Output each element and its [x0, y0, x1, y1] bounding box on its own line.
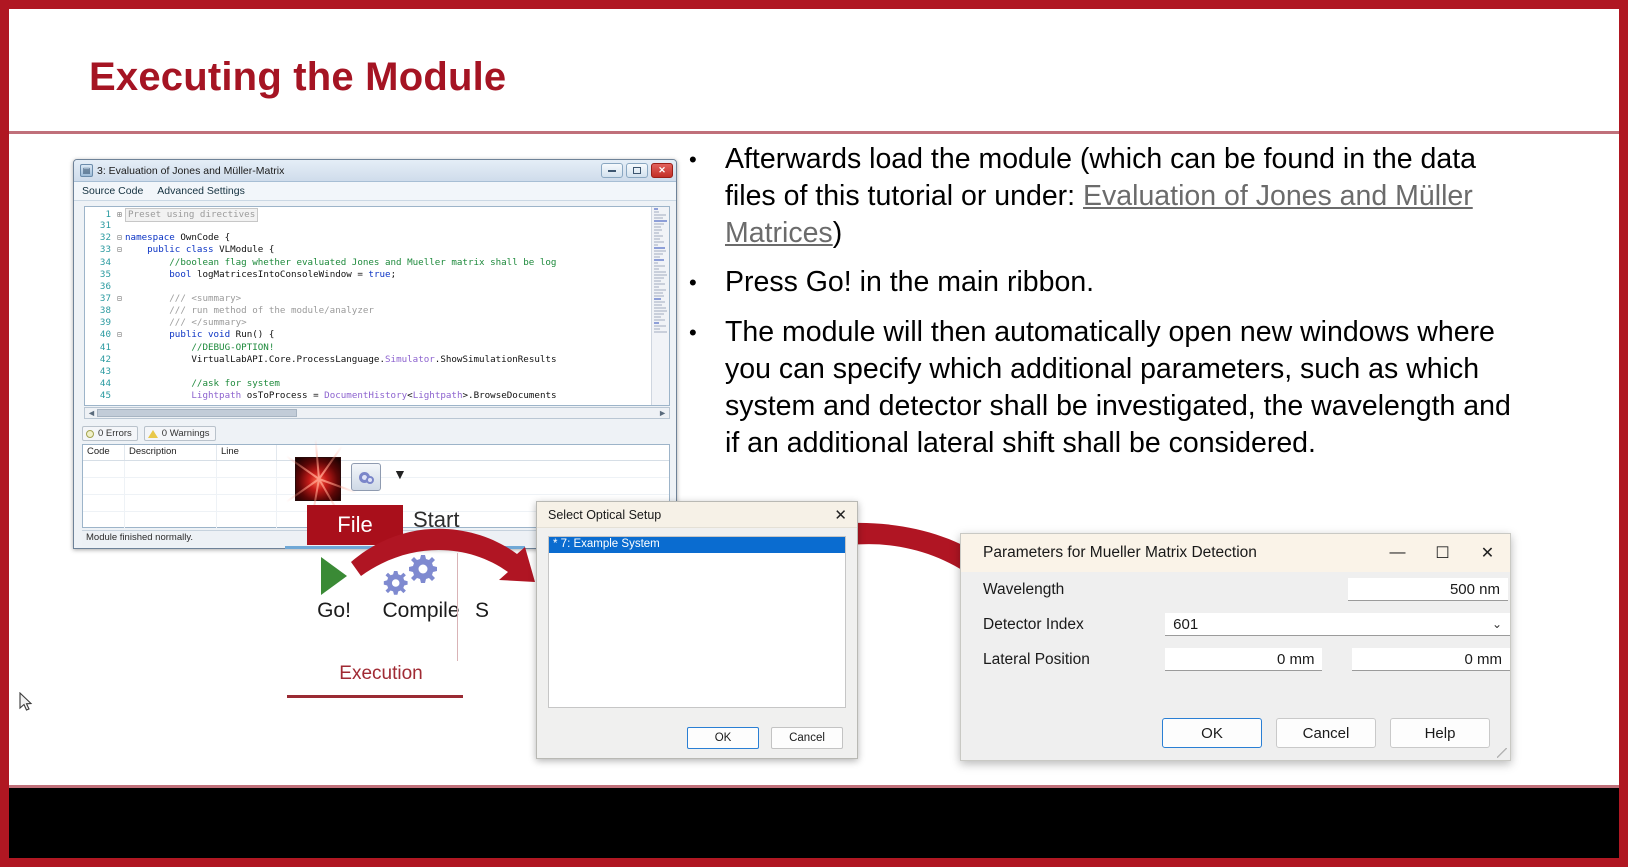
column-header-description[interactable]: Description: [125, 445, 217, 460]
code-line: 36: [85, 281, 651, 293]
minimap-line: [654, 301, 665, 303]
code-token: /// </summary>: [169, 317, 246, 328]
detector-index-value: 601: [1173, 616, 1198, 633]
minimap-line: [654, 277, 664, 279]
minimap-line: [654, 244, 658, 246]
code-line: 34 //boolean flag whether evaluated Jone…: [85, 257, 651, 269]
slide-canvas: Executing the Module • Afterwards load t…: [9, 9, 1619, 858]
play-icon: [321, 557, 347, 595]
minimap-line: [654, 274, 667, 276]
minimap-line: [654, 319, 665, 321]
fold-icon[interactable]: ⊟: [117, 244, 125, 256]
code-token: Run() {: [236, 329, 275, 340]
dialog-titlebar: Select Optical Setup ✕: [537, 502, 857, 528]
code-line: 44 //ask for system: [85, 378, 651, 390]
bullet-text: Afterwards load the module (which can be…: [725, 141, 1531, 252]
dialog-title: Parameters for Mueller Matrix Detection: [983, 544, 1375, 562]
indent: [125, 354, 191, 366]
code-line: 33⊟ public class VLModule {: [85, 244, 651, 256]
minimap-line: [654, 271, 666, 273]
minimap-line: [654, 325, 666, 327]
minimap-line: [654, 208, 658, 210]
code-line: 1⊞Preset using directives: [85, 208, 651, 220]
warnings-chip[interactable]: 0 Warnings: [144, 426, 216, 441]
form-row-lateral-position: Lateral Position 0 mm 0 mm: [961, 642, 1510, 677]
indent: [125, 257, 169, 269]
code-token: osToProcess =: [241, 390, 324, 401]
title-divider: [9, 131, 1619, 134]
code-token: public void: [169, 329, 235, 340]
detector-index-dropdown[interactable]: 601 ⌄: [1165, 613, 1510, 636]
help-button[interactable]: Help: [1390, 718, 1490, 748]
minimap-line: [654, 328, 660, 330]
bullet-text: The module will then automatically open …: [725, 314, 1531, 462]
select-optical-setup-dialog: Select Optical Setup ✕ * 7: Example Syst…: [536, 501, 858, 759]
bullet-item: • The module will then automatically ope…: [681, 314, 1531, 462]
code-token: //boolean flag whether evaluated Jones a…: [169, 257, 556, 268]
indent: [125, 378, 191, 390]
code-token: //DEBUG-OPTION!: [191, 342, 274, 353]
indent: [125, 293, 169, 305]
collapsed-region[interactable]: Preset using directives: [125, 208, 258, 222]
minimap-line: [654, 307, 666, 309]
line-number: 33: [85, 244, 111, 256]
bullet-item: • Afterwards load the module (which can …: [681, 141, 1531, 252]
minimap-line: [654, 310, 667, 312]
code-line: 40⊟ public void Run() {: [85, 329, 651, 341]
dialog-title: Select Optical Setup: [548, 508, 830, 522]
line-number: 43: [85, 366, 111, 378]
window-menubar: Source Code Advanced Settings: [74, 182, 676, 201]
chevron-down-icon[interactable]: ▼: [393, 469, 407, 479]
minimap-line: [654, 214, 666, 216]
optical-setup-listbox[interactable]: * 7: Example System: [548, 536, 846, 708]
bullet-text: Press Go! in the main ribbon.: [725, 264, 1531, 301]
column-header-line[interactable]: Line: [217, 445, 277, 460]
indent: [125, 317, 169, 329]
virtuallab-app-icon[interactable]: [295, 457, 341, 501]
code-line: 38 /// run method of the module/analyzer: [85, 305, 651, 317]
warning-icon: [148, 430, 158, 438]
line-number: 41: [85, 342, 111, 354]
window-title: 3: Evaluation of Jones and Müller-Matrix: [97, 165, 284, 177]
resize-grip-icon[interactable]: [1497, 748, 1507, 758]
maximize-icon[interactable]: [626, 163, 648, 178]
code-line: 43: [85, 366, 651, 378]
close-icon[interactable]: ✕: [830, 506, 851, 524]
page-title: Executing the Module: [89, 55, 506, 100]
wavelength-label: Wavelength: [983, 581, 1168, 599]
red-curved-arrow-left: [349, 524, 559, 604]
minimap-line: [654, 211, 659, 213]
minimap-line: [654, 253, 663, 255]
dialog-body: Wavelength 500 nm Detector Index 601 ⌄ L…: [961, 572, 1510, 760]
line-number: 32: [85, 232, 111, 244]
scrollbar-thumb[interactable]: [97, 409, 297, 417]
code-token: DocumentHistory: [324, 390, 407, 401]
indent: [125, 342, 191, 354]
minimap-line: [654, 295, 664, 297]
code-line: 37⊟ /// <summary>: [85, 293, 651, 305]
ok-button[interactable]: OK: [687, 727, 759, 749]
code-token: true: [368, 269, 390, 280]
gears-icon[interactable]: [351, 463, 381, 491]
minimap-line: [654, 241, 664, 243]
window-app-icon: ▤: [80, 164, 93, 177]
code-token: /// <summary>: [169, 293, 241, 304]
error-icon: [86, 430, 94, 438]
code-token: ;: [391, 269, 397, 280]
minimap-line: [654, 262, 658, 264]
warnings-count-label: 0 Warnings: [162, 428, 210, 439]
column-header-code[interactable]: Code: [83, 445, 125, 460]
window-titlebar: ▤ 3: Evaluation of Jones and Müller-Matr…: [74, 160, 676, 182]
line-number: 34: [85, 257, 111, 269]
code-editor[interactable]: 1⊞Preset using directives3132⊟namespace …: [84, 206, 670, 406]
line-number: 38: [85, 305, 111, 317]
minimap-line: [654, 292, 663, 294]
minimap-line: [654, 223, 664, 225]
bullet-marker: •: [681, 314, 725, 352]
scroll-left-icon[interactable]: ◄: [87, 408, 96, 418]
minimap-line: [654, 289, 666, 291]
menu-item-source-code[interactable]: Source Code: [82, 185, 143, 197]
dialog-button-row: OK Cancel Help: [1162, 718, 1490, 748]
footer-bar: [9, 788, 1619, 858]
line-number: 45: [85, 390, 111, 402]
minimap-line: [654, 316, 661, 318]
line-number: 36: [85, 281, 111, 293]
minimap-line: [654, 313, 664, 315]
code-token: .ShowSimulationResults: [435, 354, 557, 365]
chevron-down-icon[interactable]: ⌄: [1492, 617, 1502, 631]
code-token: VirtualLabAPI.Core.ProcessLanguage.: [191, 354, 385, 365]
editor-horizontal-scrollbar[interactable]: ◄ ►: [84, 407, 670, 419]
lateral-position-y-field[interactable]: 0 mm: [1352, 648, 1510, 671]
close-icon[interactable]: ✕: [1465, 534, 1510, 572]
code-token: namespace: [125, 232, 180, 243]
code-token: Simulator: [385, 354, 435, 365]
minimap-line: [654, 217, 663, 219]
code-minimap[interactable]: [651, 207, 669, 405]
code-token: OwnCode {: [180, 232, 230, 243]
minimap-line: [654, 280, 661, 282]
bullet-1-post: ): [833, 217, 843, 249]
minimap-line: [654, 265, 665, 267]
indent: [125, 329, 169, 341]
form-row-detector-index: Detector Index 601 ⌄: [961, 607, 1510, 642]
messages-toolbar: 0 Errors 0 Warnings: [82, 426, 216, 441]
lateral-position-label: Lateral Position: [983, 651, 1165, 669]
code-line: 32⊟namespace OwnCode {: [85, 232, 651, 244]
bullet-marker: •: [681, 141, 725, 179]
indent: [125, 269, 169, 281]
minimap-line: [654, 286, 659, 288]
errors-chip[interactable]: 0 Errors: [82, 426, 138, 441]
menu-item-advanced-settings[interactable]: Advanced Settings: [157, 185, 245, 197]
code-line: 45 Lightpath osToProcess = DocumentHisto…: [85, 390, 651, 402]
errors-count-label: 0 Errors: [98, 428, 132, 439]
minimap-line: [654, 268, 659, 270]
code-token: >.BrowseDocuments: [463, 390, 557, 401]
minimize-icon[interactable]: —: [1375, 534, 1420, 572]
dialog-titlebar: Parameters for Mueller Matrix Detection …: [961, 534, 1510, 572]
maximize-icon[interactable]: ☐: [1420, 534, 1465, 572]
minimap-line: [654, 256, 660, 258]
dialog-button-row: OK Cancel: [537, 727, 857, 749]
minimap-line: [654, 259, 664, 261]
close-icon[interactable]: ✕: [651, 163, 673, 178]
mueller-matrix-parameters-dialog: Parameters for Mueller Matrix Detection …: [960, 533, 1511, 761]
minimap-line: [654, 331, 667, 333]
code-token: public class: [147, 244, 219, 255]
code-token: //ask for system: [191, 378, 280, 389]
code-token: bool: [169, 269, 197, 280]
minimap-line: [654, 238, 660, 240]
form-row-wavelength: Wavelength 500 nm: [961, 572, 1510, 607]
minimap-line: [654, 220, 667, 222]
code-line: 35 bool logMatricesIntoConsoleWindow = t…: [85, 269, 651, 281]
bullet-item: • Press Go! in the main ribbon.: [681, 264, 1531, 302]
indent: [125, 305, 169, 317]
code-text[interactable]: 1⊞Preset using directives3132⊟namespace …: [85, 207, 651, 405]
minimap-line: [654, 226, 661, 228]
minimap-line: [654, 283, 665, 285]
indent: [125, 390, 191, 402]
ribbon-group-label: Execution: [301, 663, 461, 685]
code-token: logMatricesIntoConsoleWindow =: [197, 269, 368, 280]
line-number: 31: [85, 220, 111, 232]
list-item[interactable]: * 7: Example System: [549, 537, 845, 553]
minimap-line: [654, 298, 661, 300]
ok-button[interactable]: OK: [1162, 718, 1262, 748]
code-token: /// run method of the module/analyzer: [169, 305, 374, 316]
bullet-marker: •: [681, 264, 725, 302]
minimap-line: [654, 304, 662, 306]
fold-icon[interactable]: ⊟: [117, 329, 125, 341]
line-number: 42: [85, 354, 111, 366]
indent: [125, 244, 147, 256]
code-token: Lightpath: [191, 390, 241, 401]
minimap-line: [654, 322, 659, 324]
line-number: 35: [85, 269, 111, 281]
line-number: 40: [85, 329, 111, 341]
minimap-line: [654, 229, 662, 231]
window-button-group: ✕: [601, 163, 673, 178]
minimize-icon[interactable]: [601, 163, 623, 178]
minimap-line: [654, 235, 663, 237]
line-number: 39: [85, 317, 111, 329]
minimap-line: [654, 250, 666, 252]
mouse-pointer: [19, 692, 35, 714]
cancel-button[interactable]: Cancel: [1276, 718, 1376, 748]
code-line: 39 /// </summary>: [85, 317, 651, 329]
detector-index-label: Detector Index: [983, 616, 1165, 634]
scroll-right-icon[interactable]: ►: [658, 408, 667, 418]
bullet-list: • Afterwards load the module (which can …: [681, 141, 1531, 474]
minimap-line: [654, 247, 665, 249]
slide-frame: Executing the Module • Afterwards load t…: [0, 0, 1628, 867]
fold-icon[interactable]: ⊟: [117, 293, 125, 305]
line-number: 44: [85, 378, 111, 390]
ribbon-group-underline: [287, 695, 463, 698]
cancel-button[interactable]: Cancel: [771, 727, 843, 749]
code-token: VLModule {: [219, 244, 274, 255]
minimap-line: [654, 232, 659, 234]
wavelength-field[interactable]: 500 nm: [1348, 578, 1508, 601]
fold-icon[interactable]: ⊟: [117, 232, 125, 244]
line-number: 37: [85, 293, 111, 305]
code-line: 42 VirtualLabAPI.Core.ProcessLanguage.Si…: [85, 354, 651, 366]
code-line: 41 //DEBUG-OPTION!: [85, 342, 651, 354]
code-token: Lightpath: [413, 390, 463, 401]
lateral-position-x-field[interactable]: 0 mm: [1165, 648, 1323, 671]
